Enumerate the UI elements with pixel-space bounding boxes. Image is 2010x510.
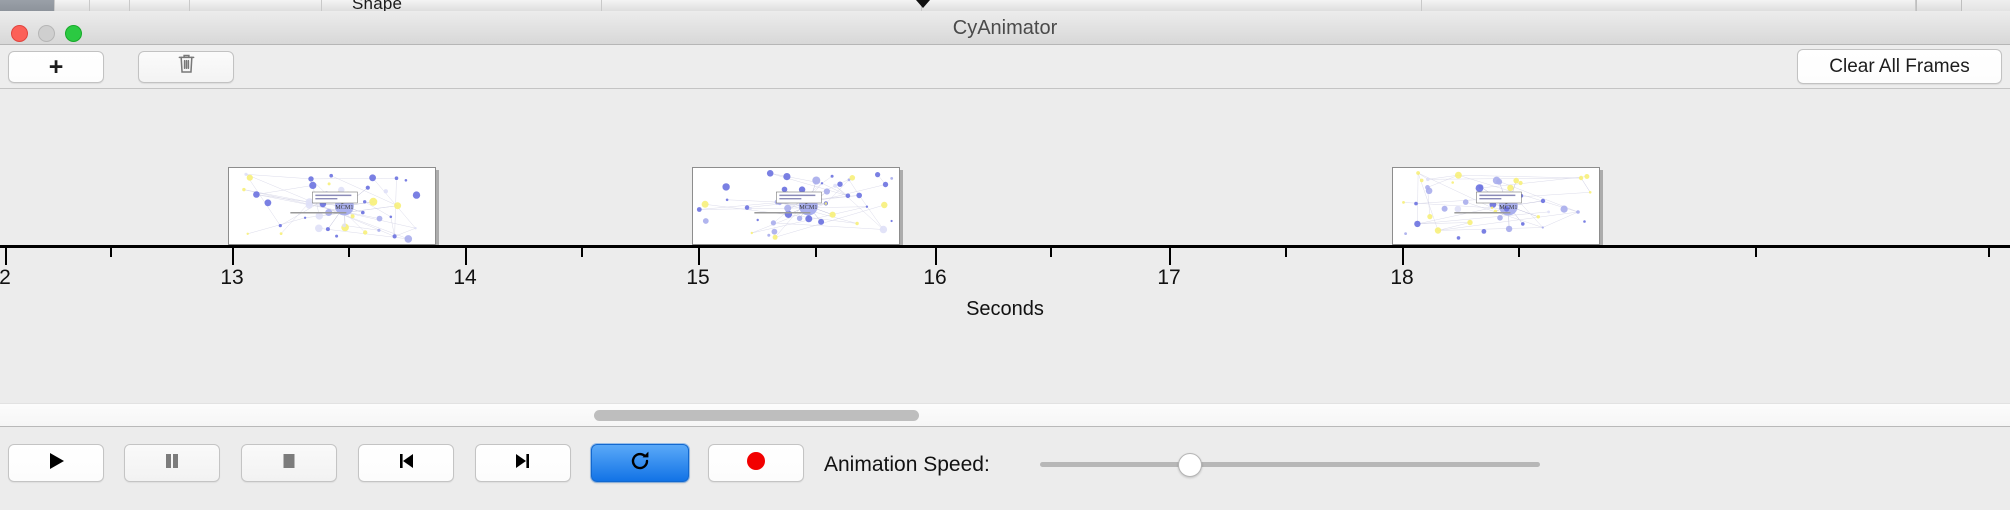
- axis-tick-major: [698, 248, 700, 265]
- axis-tick-label: 18: [1390, 266, 1413, 290]
- timeline-frame-thumbnail[interactable]: MCM1: [692, 167, 900, 245]
- window-title: CyAnimator: [0, 17, 2010, 40]
- timeline-scrollbar[interactable]: [0, 403, 2010, 427]
- delete-frame-button[interactable]: [138, 51, 234, 83]
- axis-tick-minor: [1050, 248, 1052, 257]
- play-icon: [45, 450, 67, 477]
- animation-speed-slider-thumb[interactable]: [1178, 453, 1202, 477]
- axis-tick-label: 17: [1157, 266, 1180, 290]
- timeline-panel[interactable]: MCM1 MCM1 MCM1 2131415161718 Seconds: [0, 90, 2010, 403]
- stop-button[interactable]: [241, 444, 337, 482]
- trash-icon: [177, 53, 196, 81]
- axis-tick-major: [1402, 248, 1404, 265]
- record-icon: [745, 450, 767, 477]
- axis-tick-label: 14: [453, 266, 476, 290]
- svg-text:MCM1: MCM1: [335, 204, 353, 211]
- timeline-axis-line: [0, 245, 2010, 248]
- timeline-scrollbar-thumb[interactable]: [594, 410, 919, 421]
- axis-tick-label: 15: [686, 266, 709, 290]
- axis-tick-major: [5, 248, 7, 265]
- timeline-frame-thumbnail[interactable]: MCM1: [1392, 167, 1600, 245]
- plus-icon: +: [49, 55, 64, 80]
- axis-tick-minor: [110, 248, 112, 257]
- animation-speed-label: Animation Speed:: [824, 453, 990, 477]
- axis-tick-label: 16: [923, 266, 946, 290]
- axis-tick-label: 2: [0, 266, 11, 290]
- record-button[interactable]: [708, 444, 804, 482]
- add-frame-button[interactable]: +: [8, 51, 104, 83]
- background-window-corner: [1916, 0, 1962, 11]
- clear-all-frames-label: Clear All Frames: [1829, 56, 1969, 78]
- pause-icon: [162, 451, 182, 476]
- skip-next-button[interactable]: [475, 444, 571, 482]
- axis-tick-minor: [1518, 248, 1520, 257]
- skip-previous-icon: [395, 451, 417, 476]
- background-window-strip: Shape: [0, 0, 2010, 11]
- play-button[interactable]: [8, 444, 104, 482]
- title-bar: CyAnimator: [0, 11, 2010, 45]
- loop-button[interactable]: [591, 444, 689, 482]
- axis-tick-minor: [1755, 248, 1757, 257]
- svg-text:MCM1: MCM1: [799, 204, 817, 211]
- svg-text:MCM1: MCM1: [1499, 204, 1517, 211]
- skip-next-icon: [512, 451, 534, 476]
- axis-tick-minor: [581, 248, 583, 257]
- axis-title: Seconds: [0, 298, 2010, 321]
- background-window-arrow-icon: [916, 0, 930, 8]
- background-window-label: Shape: [352, 0, 402, 11]
- frame-toolbar: + Clear All Frames: [0, 45, 2010, 89]
- axis-tick-major: [232, 248, 234, 265]
- timeline-frame-thumbnail[interactable]: MCM1: [228, 167, 436, 245]
- loop-icon: [628, 449, 652, 478]
- axis-tick-minor: [348, 248, 350, 257]
- axis-tick-major: [465, 248, 467, 265]
- pause-button[interactable]: [124, 444, 220, 482]
- axis-tick-major: [1169, 248, 1171, 265]
- clear-all-frames-button[interactable]: Clear All Frames: [1797, 49, 2002, 84]
- axis-tick-minor: [1285, 248, 1287, 257]
- playback-control-bar: Animation Speed:: [0, 428, 2010, 510]
- cyanimator-window: Shape CyAnimator + Clear All Fra: [0, 0, 2010, 510]
- stop-icon: [279, 451, 299, 476]
- frames-track[interactable]: MCM1 MCM1 MCM1: [0, 90, 2010, 245]
- skip-previous-button[interactable]: [358, 444, 454, 482]
- axis-tick-minor: [1988, 248, 1990, 257]
- axis-tick-minor: [815, 248, 817, 257]
- axis-tick-major: [935, 248, 937, 265]
- animation-speed-slider[interactable]: [1040, 462, 1540, 467]
- axis-tick-label: 13: [220, 266, 243, 290]
